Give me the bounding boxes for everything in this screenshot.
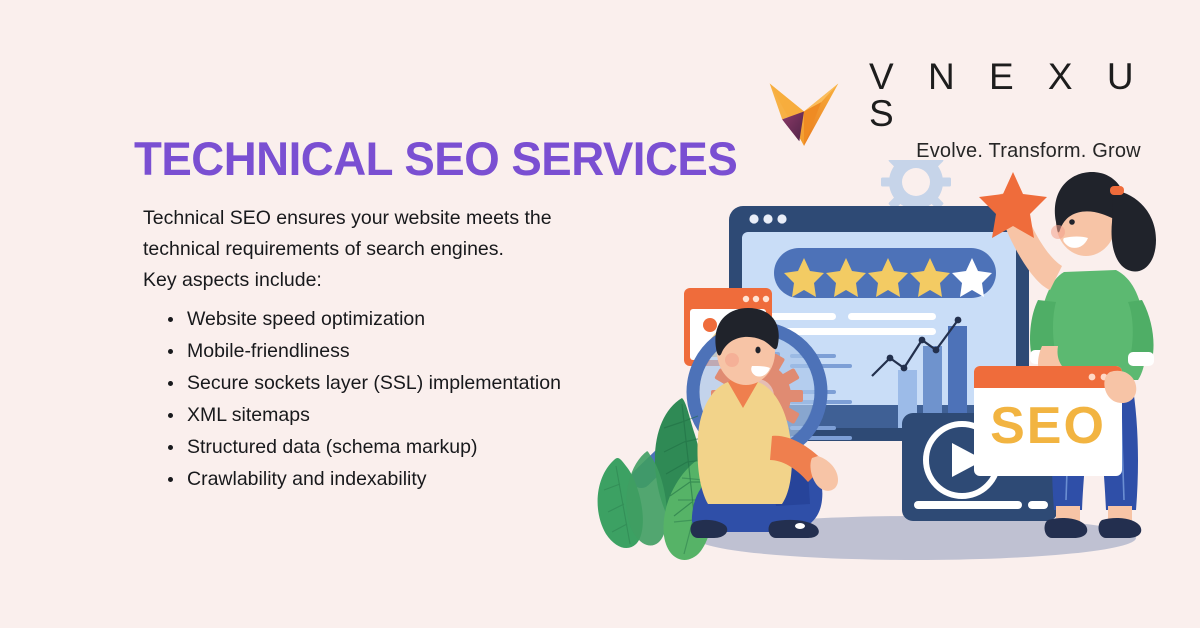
vnexus-v-logo-icon [765,71,843,149]
seo-service-banner: V N E X U S Evolve. Transform. Grow TECH… [0,0,1200,628]
seo-card-label: SEO [990,397,1106,455]
woman-shoe [1099,518,1142,538]
intro-line-3: Key aspects include: [143,265,573,296]
list-item: XML sitemaps [185,399,561,431]
intro-paragraph: Technical SEO ensures your website meets… [143,203,573,296]
intro-line-1: Technical SEO ensures your website meets… [143,203,573,234]
window-dot [749,214,758,223]
sun-icon [703,318,717,332]
brand-name: V N E X U S [857,58,1200,132]
seo-card: SEO [974,366,1122,476]
window-dot [777,214,786,223]
list-item: Mobile-friendliness [185,335,561,367]
list-item: Secure sockets layer (SSL) implementatio… [185,367,561,399]
window-dot [763,214,772,223]
intro-line-2: technical requirements of search engines… [143,234,573,265]
woman-ponytail [1112,190,1156,272]
seo-illustration: SEO [586,160,1200,590]
woman-shoe [1045,518,1088,538]
brand-logo: V N E X U S Evolve. Transform. Grow [765,58,1200,161]
list-item: Crawlability and indexability [185,463,561,495]
star-rating-bar [774,248,996,298]
brand-tagline: Evolve. Transform. Grow [916,141,1141,161]
key-aspects-list: Website speed optimization Mobile-friend… [161,303,561,495]
progress-bar [914,501,1022,509]
list-item: Structured data (schema markup) [185,431,561,463]
list-item: Website speed optimization [185,303,561,335]
